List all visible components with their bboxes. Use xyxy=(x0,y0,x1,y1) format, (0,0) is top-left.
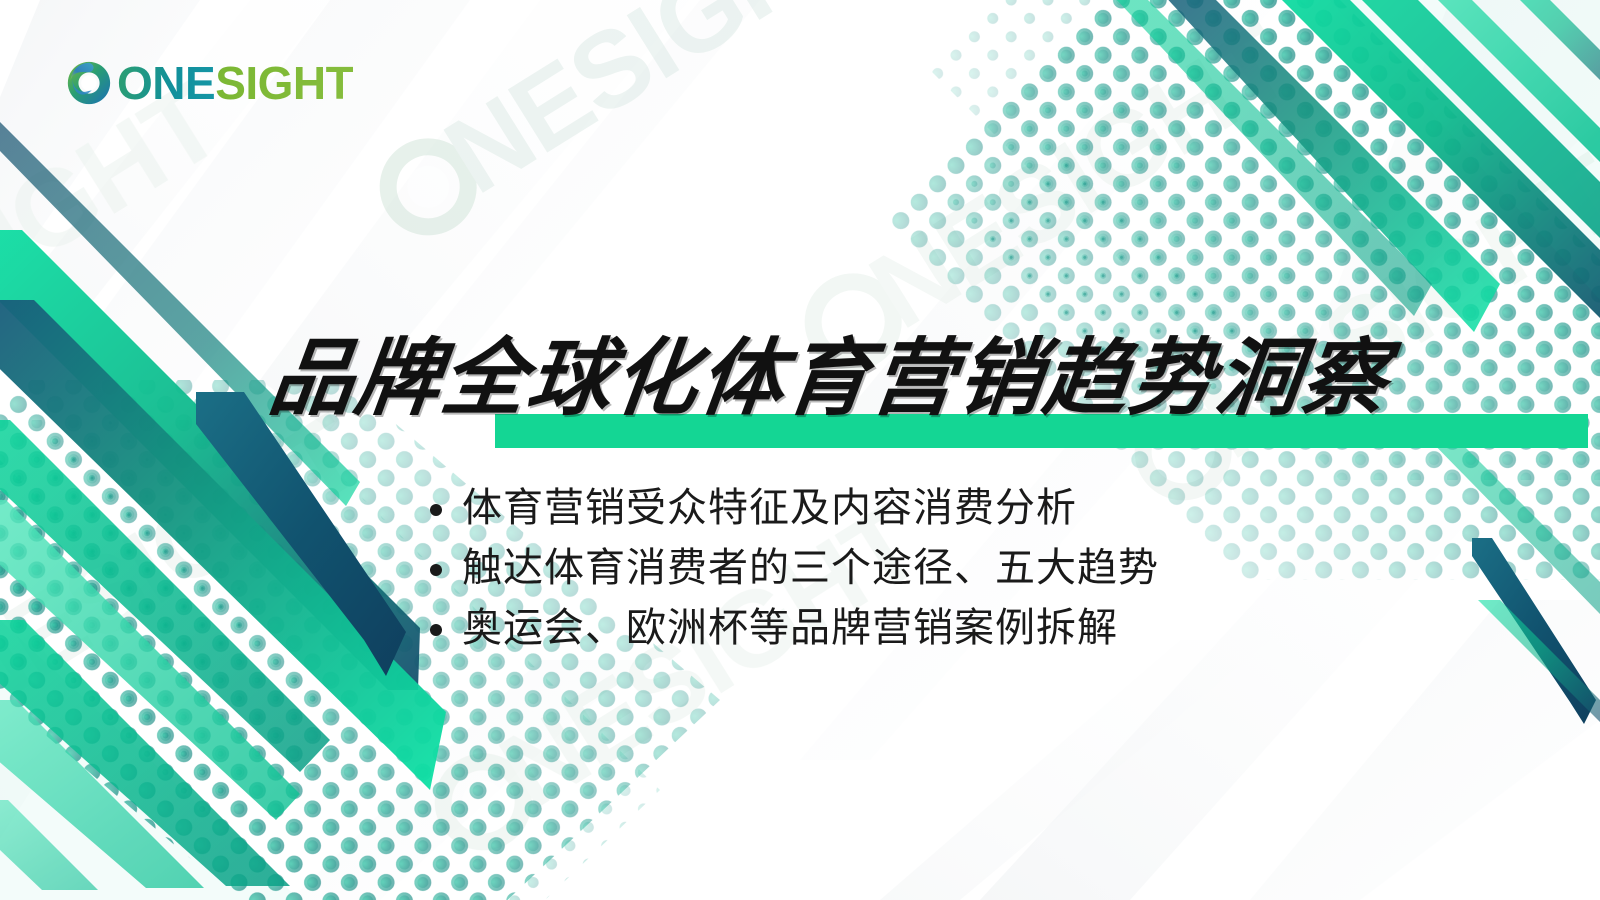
list-item: 触达体育消费者的三个途径、五大趋势 xyxy=(430,547,1170,590)
bullet-icon xyxy=(430,624,442,636)
agenda-list-container: 体育营销受众特征及内容消费分析 触达体育消费者的三个途径、五大趋势 奥运会、欧洲… xyxy=(0,487,1600,651)
bullet-icon xyxy=(430,564,442,576)
cover-slide: NESIGHT NESIGHT NESIGHT NESIGHT xyxy=(0,0,1600,900)
facet-shapes xyxy=(0,0,1600,900)
title-wrap: 品牌全球化体育营销趋势洞察 xyxy=(240,336,1360,420)
stripes-top-right xyxy=(1098,0,1600,336)
list-item-label: 触达体育消费者的三个途径、五大趋势 xyxy=(462,547,1159,590)
title-block: 品牌全球化体育营销趋势洞察 xyxy=(0,336,1600,420)
onesight-logo[interactable]: ONESIGHT xyxy=(66,60,353,106)
background-graphics: NESIGHT NESIGHT NESIGHT NESIGHT xyxy=(0,0,1600,900)
logo-word-sight: SIGHT xyxy=(215,57,353,109)
stripes-bottom-left xyxy=(0,800,98,890)
logo-word-one: ONE xyxy=(117,57,215,109)
agenda-list: 体育营销受众特征及内容消费分析 触达体育消费者的三个途径、五大趋势 奥运会、欧洲… xyxy=(430,487,1170,651)
svg-text:NESIGHT: NESIGHT xyxy=(425,0,885,216)
list-item-label: 体育营销受众特征及内容消费分析 xyxy=(462,487,1077,530)
background-base xyxy=(0,0,1600,900)
list-item-label: 奥运会、欧洲杯等品牌营销案例拆解 xyxy=(462,607,1118,650)
logo-wordmark: ONESIGHT xyxy=(117,60,353,106)
bullet-icon xyxy=(430,504,442,516)
corner-tints xyxy=(0,0,1600,900)
list-item: 奥运会、欧洲杯等品牌营销案例拆解 xyxy=(430,607,1170,650)
svg-text:NESIGHT: NESIGHT xyxy=(850,1,1310,351)
list-item: 体育营销受众特征及内容消费分析 xyxy=(430,487,1170,530)
onesight-swirl-icon xyxy=(66,60,112,106)
background-decoration: NESIGHT NESIGHT NESIGHT NESIGHT xyxy=(0,0,1600,900)
page-title: 品牌全球化体育营销趋势洞察 xyxy=(235,336,1365,420)
